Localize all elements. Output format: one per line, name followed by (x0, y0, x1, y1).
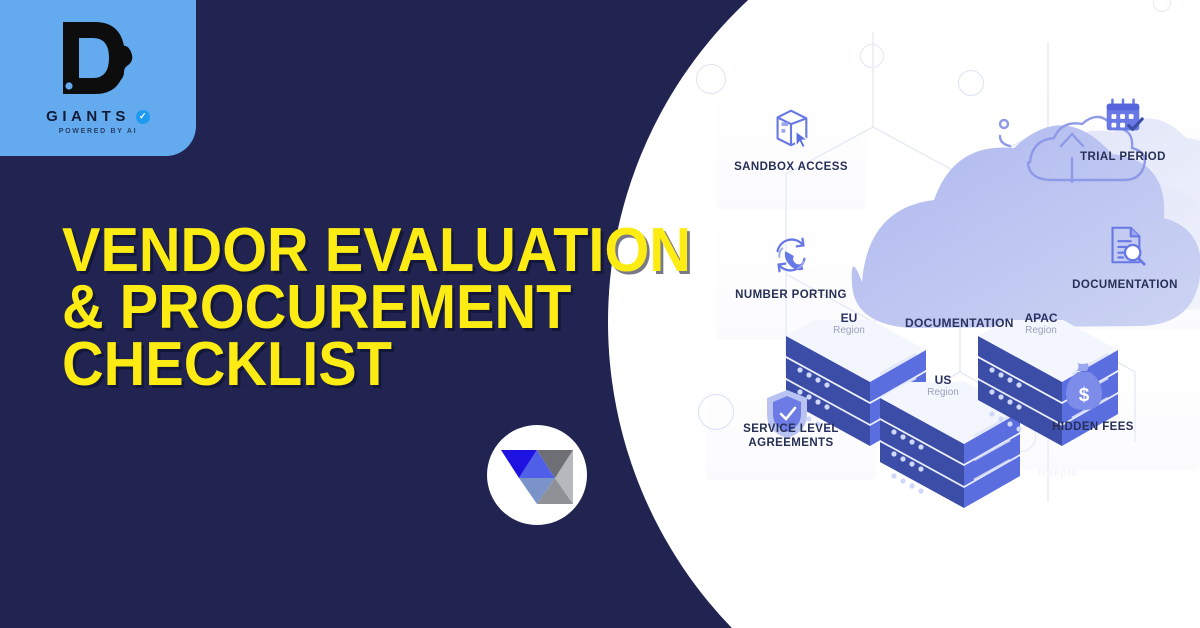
cloud-infrastructure-illustration: EU Region US Region APAC Region DOCUMENT… (608, 0, 1200, 628)
region-label-eu: EU Region (804, 312, 894, 336)
verified-badge-icon: ✓ (136, 110, 150, 124)
dial-giants-logo (43, 14, 153, 114)
center-documentation-label: DOCUMENTATION (905, 316, 1014, 330)
calendar-check-icon (1100, 94, 1146, 140)
headline-line-1: VENDOR EVALUATION (62, 222, 583, 279)
headline-line-3: CHECKLIST (62, 336, 583, 393)
node-label: HIDDEN FEES (1052, 420, 1134, 434)
region-name: US (935, 373, 952, 387)
brand-card: GIANTS ✓ POWERED BY AI (0, 0, 196, 156)
node-label: DOCUMENTATION (1072, 278, 1178, 292)
svg-text:$: $ (1079, 385, 1090, 406)
node-trial-period[interactable]: TRIAL PERIOD (1038, 94, 1200, 164)
secondary-logo-badge (487, 425, 587, 525)
v-triangles-logo (499, 444, 575, 506)
poster-canvas: EU Region US Region APAC Region DOCUMENT… (0, 0, 1200, 628)
document-search-icon (1102, 222, 1148, 268)
brand-tagline: POWERED BY AI (59, 128, 138, 135)
brand-name: GIANTS (46, 108, 130, 125)
node-label: NUMBER PORTING (735, 288, 847, 302)
node-service-level-agreements[interactable]: SERVICE LEVEL AGREEMENTS (706, 412, 876, 451)
node-label: SANDBOX ACCESS (734, 160, 848, 174)
node-sandbox-access[interactable]: SANDBOX ACCESS (706, 104, 876, 174)
region-label-us: US Region (898, 374, 988, 398)
headline-line-2: & PROCUREMENT (62, 279, 583, 336)
server-apac-region (968, 320, 1138, 460)
deco-ring-1 (696, 64, 726, 94)
node-hidden-fees[interactable]: HIDDEN FEES (1008, 410, 1178, 434)
watermark: freepik (1038, 467, 1078, 479)
page-title: VENDOR EVALUATION & PROCUREMENT CHECKLIS… (62, 222, 622, 393)
box-cursor-icon (768, 104, 814, 150)
brand-name-row: GIANTS ✓ (46, 108, 150, 125)
node-label: TRIAL PERIOD (1080, 150, 1166, 164)
phone-sync-icon (768, 232, 814, 278)
illustration-circle: EU Region US Region APAC Region DOCUMENT… (608, 0, 1200, 628)
region-sub: Region (804, 326, 894, 337)
deco-ring-2 (860, 44, 884, 68)
node-label: SERVICE LEVEL AGREEMENTS (743, 422, 839, 451)
node-number-porting[interactable]: NUMBER PORTING (706, 232, 876, 302)
region-name: APAC (1024, 311, 1057, 325)
region-sub: Region (898, 388, 988, 399)
node-documentation[interactable]: DOCUMENTATION (1040, 222, 1200, 292)
money-bag-icon: $ (1060, 360, 1108, 414)
region-name: EU (841, 311, 858, 325)
